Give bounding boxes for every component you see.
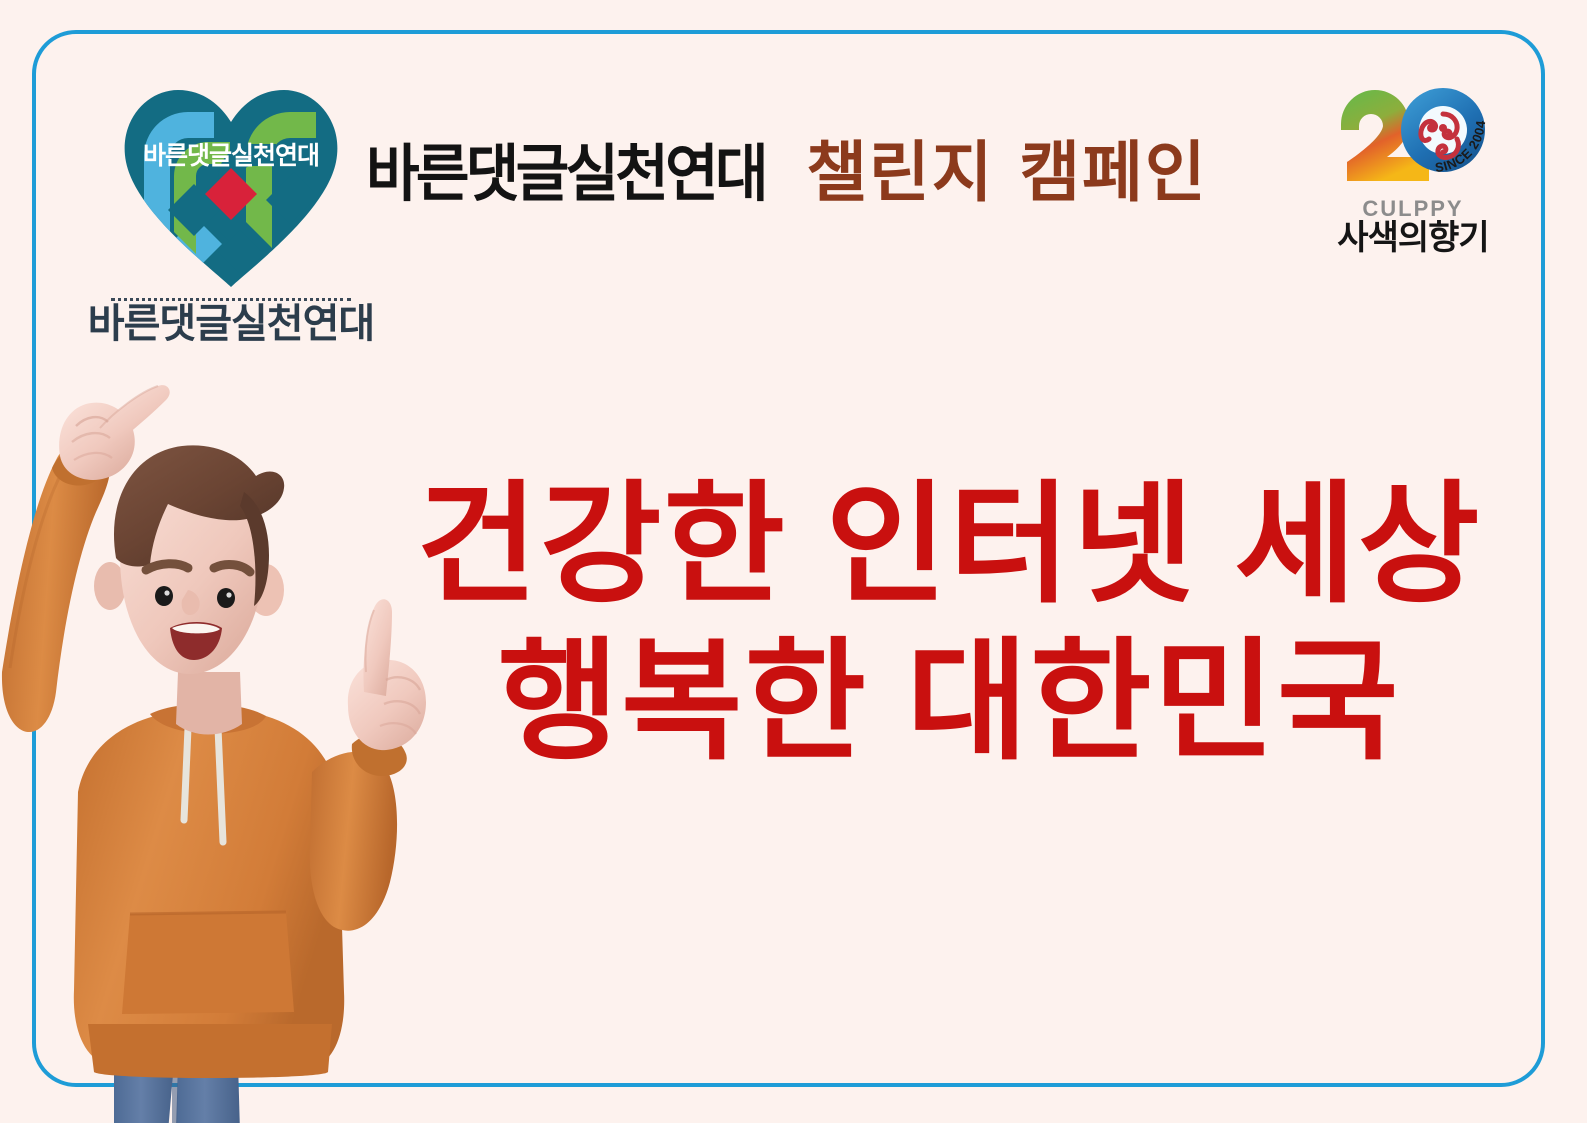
logo-caption-text: 바른댓글실천연대 (86, 303, 376, 345)
character-right-arm (310, 752, 397, 931)
headline-line-2: 행복한 대한민국 (404, 625, 1494, 778)
pointing-character-illustration (0, 372, 462, 1123)
headline-line-1: 건강한 인터넷 세상 (404, 468, 1494, 621)
header-title: 바른댓글실천연대챌린지 캠페인 (366, 140, 1208, 206)
anniversary-korean-name: 사색의향기 (1325, 220, 1501, 257)
character-head (94, 445, 284, 674)
character-hoodie (74, 704, 344, 1078)
heart-logo-inner-text: 바른댓글실천연대 (143, 142, 319, 170)
poster-canvas: 바른댓글실천연대 바른댓글실천연대 바른댓글실천연대챌린지 캠페인 (0, 0, 1587, 1123)
anniversary-logo-block: SINCE 2004 CULPPY 사색의향기 (1325, 78, 1501, 257)
header-title-main-text: 바른댓글실천연대 (366, 144, 765, 206)
header-title-accent-text: 챌린지 캠페인 (806, 140, 1207, 206)
anniversary-english-name: CULPPY (1325, 198, 1501, 220)
character-neck (176, 672, 242, 735)
character-left-eye (155, 586, 173, 606)
main-headline: 건강한 인터넷 세상 행복한 대한민국 (404, 468, 1494, 778)
character-left-arm (2, 440, 110, 732)
hoodie-pocket (122, 912, 294, 1014)
organization-logo-block: 바른댓글실천연대 바른댓글실천연대 (86, 82, 376, 345)
character-svg (0, 372, 462, 1123)
anniversary-20-icon: SINCE 2004 (1325, 78, 1501, 196)
character-right-eye (217, 588, 235, 608)
heart-logo-icon: 바른댓글실천연대 (116, 82, 346, 292)
hoodie-hem (88, 1024, 332, 1078)
character-right-hand-pointing (348, 599, 426, 750)
